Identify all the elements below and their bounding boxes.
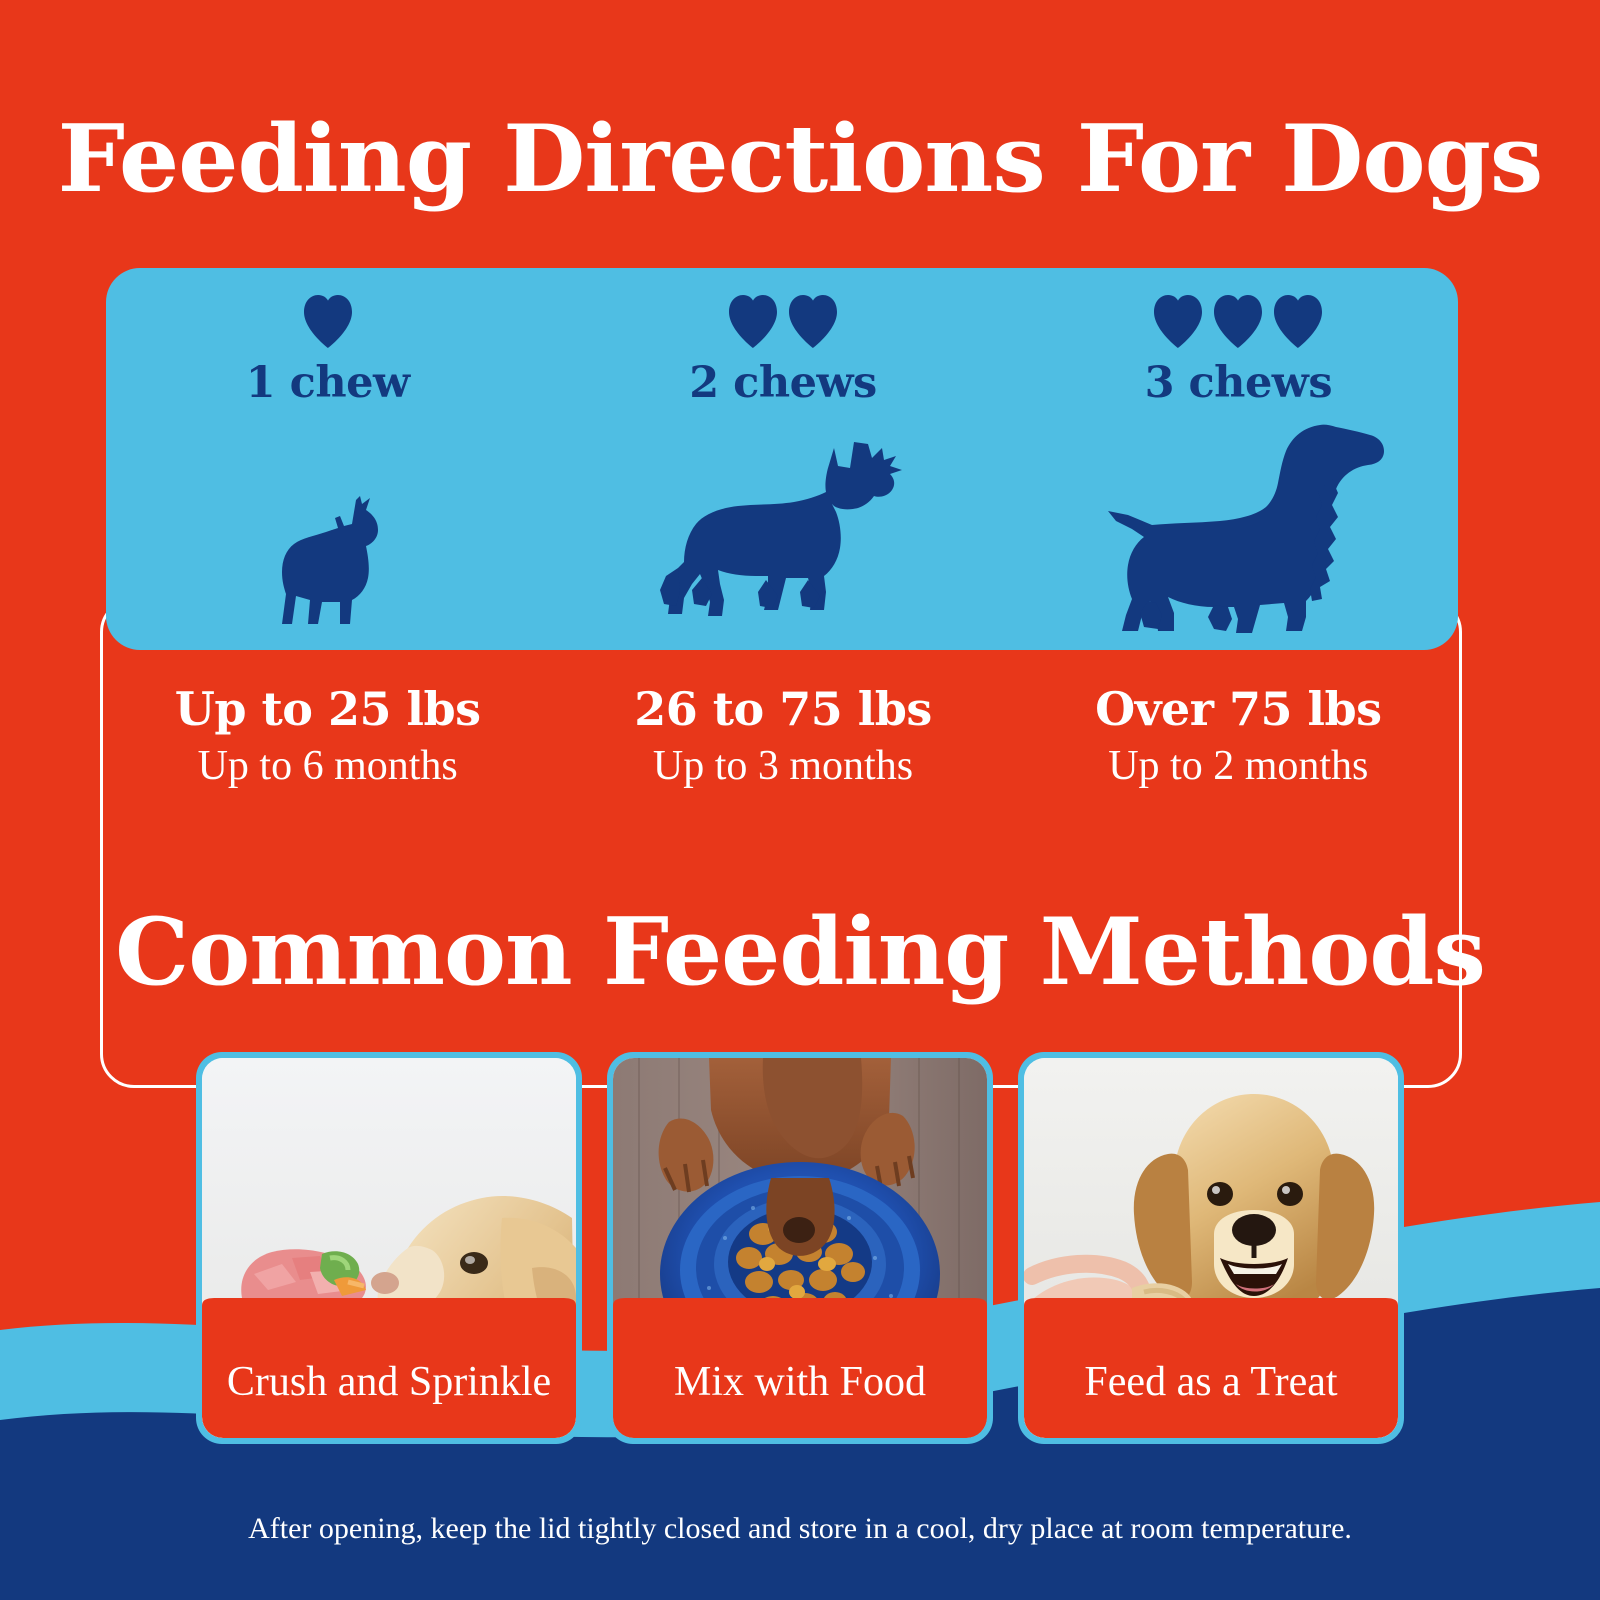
storage-instructions: After opening, keep the lid tightly clos… [0,1512,1600,1546]
caption-notch [1024,1298,1398,1326]
duration-label: Up to 2 months [1011,740,1466,793]
dosing-column-large: 3 chews Over 75 lbs Up to 2 months [1011,268,1466,828]
heart-group [100,294,555,354]
heart-group [1011,294,1466,354]
large-dog-silhouette [1011,414,1466,634]
method-card[interactable]: Feed as a Treat [1018,1052,1404,1444]
heart-icon [787,294,839,348]
dosing-column-medium: 2 chews 26 to 75 lbs Up to 3 months [555,268,1010,828]
medium-dog-silhouette [555,414,1010,634]
caption-notch [613,1298,987,1326]
weight-label: Over 75 lbs [1011,683,1466,736]
duration-label: Up to 6 months [100,740,555,793]
chew-count-label: 3 chews [1011,358,1466,408]
infographic-root: Feeding Directions For Dogs 1 chew [0,0,1600,1600]
chew-count-label: 2 chews [555,358,1010,408]
methods-title: Common Feeding Methods [0,905,1600,998]
small-dog-silhouette [100,414,555,634]
heart-icon [1272,294,1324,348]
method-caption: Mix with Food [613,1326,987,1438]
feeding-methods-list: Crush and Sprinkle [196,1052,1404,1452]
method-caption: Crush and Sprinkle [202,1326,576,1438]
weight-label: Up to 25 lbs [100,683,555,736]
method-card[interactable]: Crush and Sprinkle [196,1052,582,1444]
heart-group [555,294,1010,354]
weight-block: 26 to 75 lbs Up to 3 months [555,683,1010,792]
dosing-column-small: 1 chew Up to 25 lbs Up to 6 months [100,268,555,828]
duration-label: Up to 3 months [555,740,1010,793]
chew-count-label: 1 chew [100,358,555,408]
heart-icon [1212,294,1264,348]
weight-block: Over 75 lbs Up to 2 months [1011,683,1466,792]
page-title: Feeding Directions For Dogs [0,112,1600,205]
heart-icon [727,294,779,348]
method-caption: Feed as a Treat [1024,1326,1398,1438]
weight-label: 26 to 75 lbs [555,683,1010,736]
method-card[interactable]: Mix with Food [607,1052,993,1444]
weight-block: Up to 25 lbs Up to 6 months [100,683,555,792]
heart-icon [302,294,354,348]
heart-icon [1152,294,1204,348]
caption-notch [202,1298,576,1326]
